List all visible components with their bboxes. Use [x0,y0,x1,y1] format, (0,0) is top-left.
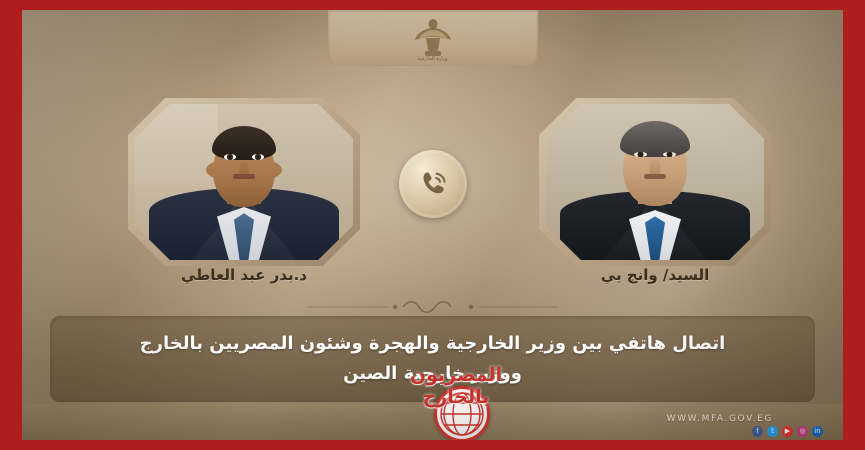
instagram-icon[interactable]: ◎ [797,426,808,437]
headline-banner: اتصال هاتفي بين وزير الخارجية والهجرة وش… [50,316,815,402]
social-icons: f t ▶ ◎ in [752,426,823,437]
facebook-icon[interactable]: f [752,426,763,437]
red-photo-frame: وزارة الخارجية [0,0,865,450]
emblem-plate: وزارة الخارجية [328,10,538,66]
person-name-left: د.بدر عبد العاطي [94,266,394,284]
headline-line-2: ووزير خارجية الصين [343,359,522,389]
emblem-caption: وزارة الخارجية [328,56,538,62]
linkedin-icon[interactable]: in [812,426,823,437]
headline-line-1: اتصال هاتفي بين وزير الخارجية والهجرة وش… [140,329,726,359]
ornament-divider [303,298,563,316]
person-name-right: السيد/ وانج يي [505,266,805,284]
youtube-icon[interactable]: ▶ [782,426,793,437]
website-url: WWW.MFA.GOV.EG [667,414,773,424]
phone-call-icon [399,150,467,218]
portrait-photo-right [546,104,764,260]
twitter-icon[interactable]: t [767,426,778,437]
news-card: وزارة الخارجية [22,10,843,440]
portrait-frame-right [539,98,771,266]
portrait-frame-left [128,98,360,266]
portrait-photo-left [135,104,353,260]
